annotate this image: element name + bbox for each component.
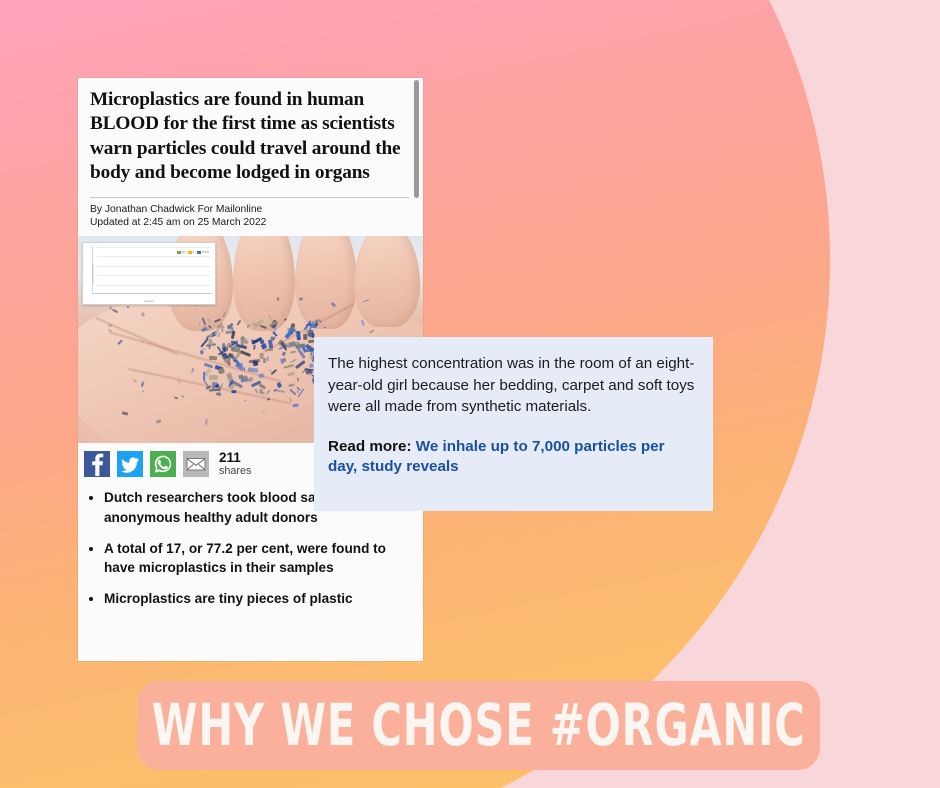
chart-legend-swatch [177,251,181,254]
chart-y-axis-label: Concentration (ug/ml) [93,264,95,283]
share-count-number: 211 [219,451,251,466]
microplastic-flake [253,345,256,350]
scrollbar-thumb[interactable] [414,80,419,198]
chart-legend-label: PET [182,252,186,254]
finger-shape [354,236,420,327]
chart-legend-swatch [188,251,192,254]
banner-title: WHY WE CHOSE #ORGANIC [152,696,806,754]
microplastic-flake [293,403,299,407]
whatsapp-share-icon[interactable] [150,451,176,477]
inline-bar-chart: Concentration (ug/ml) Samples PETPSPMMA [82,242,216,305]
microplastic-flake [297,389,299,393]
microplastic-flake [209,355,217,360]
microplastic-flake [267,356,269,361]
callout-box: The highest concentration was in the roo… [314,337,713,511]
microplastic-flake [303,334,308,341]
microplastic-flake [259,353,263,359]
read-more-label: Read more: [328,438,412,455]
chart-legend: PETPSPMMA [177,251,209,254]
microplastic-flake [310,323,317,328]
chart-legend-item: PMMA [197,251,209,254]
callout-body-text: The highest concentration was in the roo… [328,353,695,418]
microplastic-flake [231,390,236,393]
article-bullet-item: A total of 17, or 77.2 per cent, were fo… [104,539,411,578]
article-bullet-item: Microplastics are tiny pieces of plastic [104,589,411,609]
microplastic-flake [204,372,206,381]
callout-read-more: Read more: We inhale up to 7,000 particl… [328,437,695,478]
article-header: Microplastics are found in human BLOOD f… [78,78,423,230]
chart-bars [97,247,211,294]
chart-x-axis-label: Samples [83,300,215,303]
chart-legend-item: PET [177,251,186,254]
chart-legend-label: PMMA [202,252,209,254]
twitter-share-icon[interactable] [117,451,143,477]
byline-updated: Updated at 2:45 am on 25 March 2022 [90,216,409,230]
poster-canvas: Microplastics are found in human BLOOD f… [0,0,940,788]
microplastic-flake [259,373,264,378]
microplastic-flake [287,372,294,376]
microplastic-flake [212,382,215,391]
microplastic-flake [265,349,273,352]
email-share-icon[interactable] [183,451,209,477]
article-headline: Microplastics are found in human BLOOD f… [90,88,409,186]
byline-divider [90,197,409,198]
microplastic-flake [239,374,244,379]
share-count: 211 shares [219,451,251,477]
chart-legend-swatch [197,251,201,254]
chart-plot-area [97,247,211,294]
microplastic-flake [298,297,303,300]
chart-legend-label: PS [193,252,196,254]
finger-shape [295,236,357,329]
microplastic-flake [223,347,228,352]
chart-legend-item: PS [188,251,196,254]
article-byline: By Jonathan Chadwick For Mailonline Upda… [90,203,409,230]
bottom-banner: WHY WE CHOSE #ORGANIC [137,681,820,770]
facebook-share-icon[interactable] [84,451,110,477]
chart-x-axis [92,293,212,294]
share-count-label: shares [219,466,251,478]
finger-shape [233,236,295,331]
byline-author: By Jonathan Chadwick For Mailonline [90,203,409,217]
microplastic-flake [209,375,218,380]
